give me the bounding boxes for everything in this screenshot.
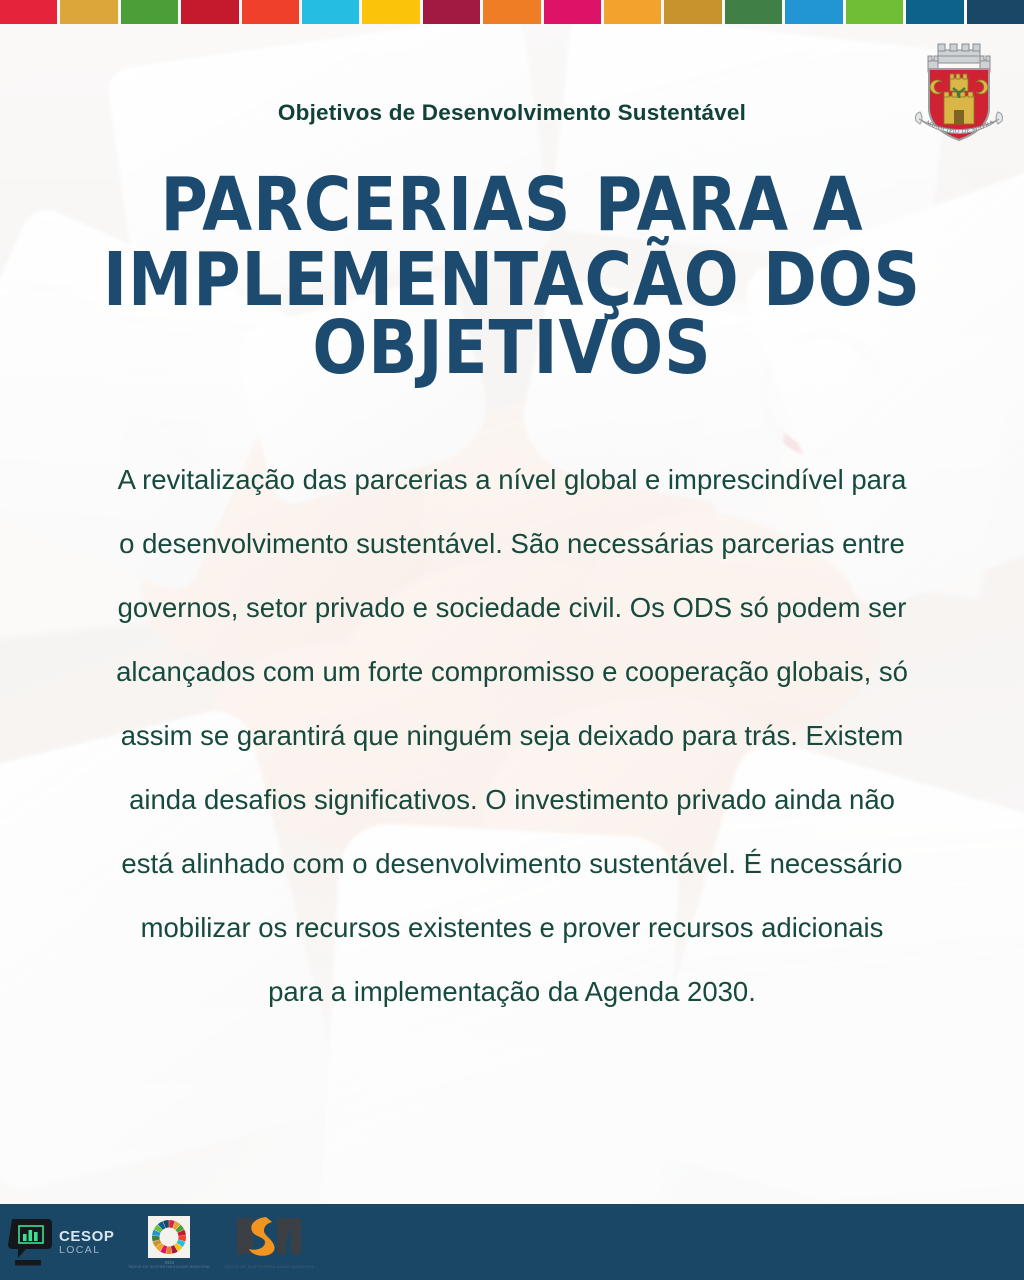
sdg-swatch-17 bbox=[967, 0, 1024, 24]
sdg-swatch-1 bbox=[0, 0, 57, 24]
sdg-swatch-13 bbox=[725, 0, 782, 24]
footer-bar: CESOP LOCAL ODS ÍNDICE DE SUSTENTABILIDA… bbox=[0, 1204, 1024, 1280]
sdg-swatch-4 bbox=[181, 0, 238, 24]
sdg-swatch-8 bbox=[423, 0, 480, 24]
sdg-swatch-16 bbox=[906, 0, 963, 24]
sdg-swatch-9 bbox=[483, 0, 540, 24]
sdg-swatch-11 bbox=[604, 0, 661, 24]
cesop-local-logo[interactable]: CESOP LOCAL bbox=[8, 1217, 115, 1267]
body-paragraph: A revitalização das parcerias a nível gl… bbox=[112, 448, 912, 1024]
sdg-swatch-5 bbox=[242, 0, 299, 24]
sdg-swatch-7 bbox=[362, 0, 419, 24]
cesop-label: CESOP bbox=[59, 1229, 115, 1244]
footer-logo-group: CESOP LOCAL ODS ÍNDICE DE SUSTENTABILIDA… bbox=[8, 1215, 314, 1269]
page-title: Parcerias para a implementação dos objet… bbox=[15, 171, 1008, 381]
sdg-swatch-15 bbox=[846, 0, 903, 24]
ism-monogram-icon bbox=[224, 1215, 314, 1264]
sdg-swatch-2 bbox=[60, 0, 117, 24]
sdg-colour-bar bbox=[0, 0, 1024, 24]
cesop-local-wordmark: CESOP LOCAL bbox=[59, 1229, 115, 1256]
ism-logo[interactable]: ÍNDICE DE SUSTENTABILIDADE MUNICIPAL bbox=[224, 1215, 314, 1269]
sdg-poster: MUNICÍPIO DE MAFRA Objetivos de Desenvol… bbox=[0, 0, 1024, 1280]
sdg-swatch-14 bbox=[785, 0, 842, 24]
sdg-swatch-12 bbox=[664, 0, 721, 24]
sdg-colour-wheel-icon bbox=[148, 1216, 190, 1258]
municipal-coat-of-arms: MUNICÍPIO DE MAFRA bbox=[908, 36, 1010, 148]
page-eyebrow: Objetivos de Desenvolvimento Sustentável bbox=[0, 100, 1024, 126]
sdg-swatch-10 bbox=[544, 0, 601, 24]
local-label: LOCAL bbox=[59, 1245, 115, 1256]
speech-bubble-bar-chart-icon bbox=[8, 1217, 52, 1267]
ism-logo-caption: ÍNDICE DE SUSTENTABILIDADE MUNICIPAL bbox=[224, 1265, 314, 1269]
sdg-swatch-6 bbox=[302, 0, 359, 24]
sdg-logo-caption-2: ÍNDICE DE SUSTENTABILIDADE MUNICIPAL bbox=[129, 1265, 211, 1269]
page-title-line-2: implementação dos objetivos bbox=[15, 246, 1008, 382]
page-title-line-1: Parcerias para a bbox=[15, 171, 1008, 239]
sdg-swatch-3 bbox=[121, 0, 178, 24]
sdg-wheel-logo[interactable]: ODS ÍNDICE DE SUSTENTABILIDADE MUNICIPAL bbox=[129, 1216, 211, 1269]
